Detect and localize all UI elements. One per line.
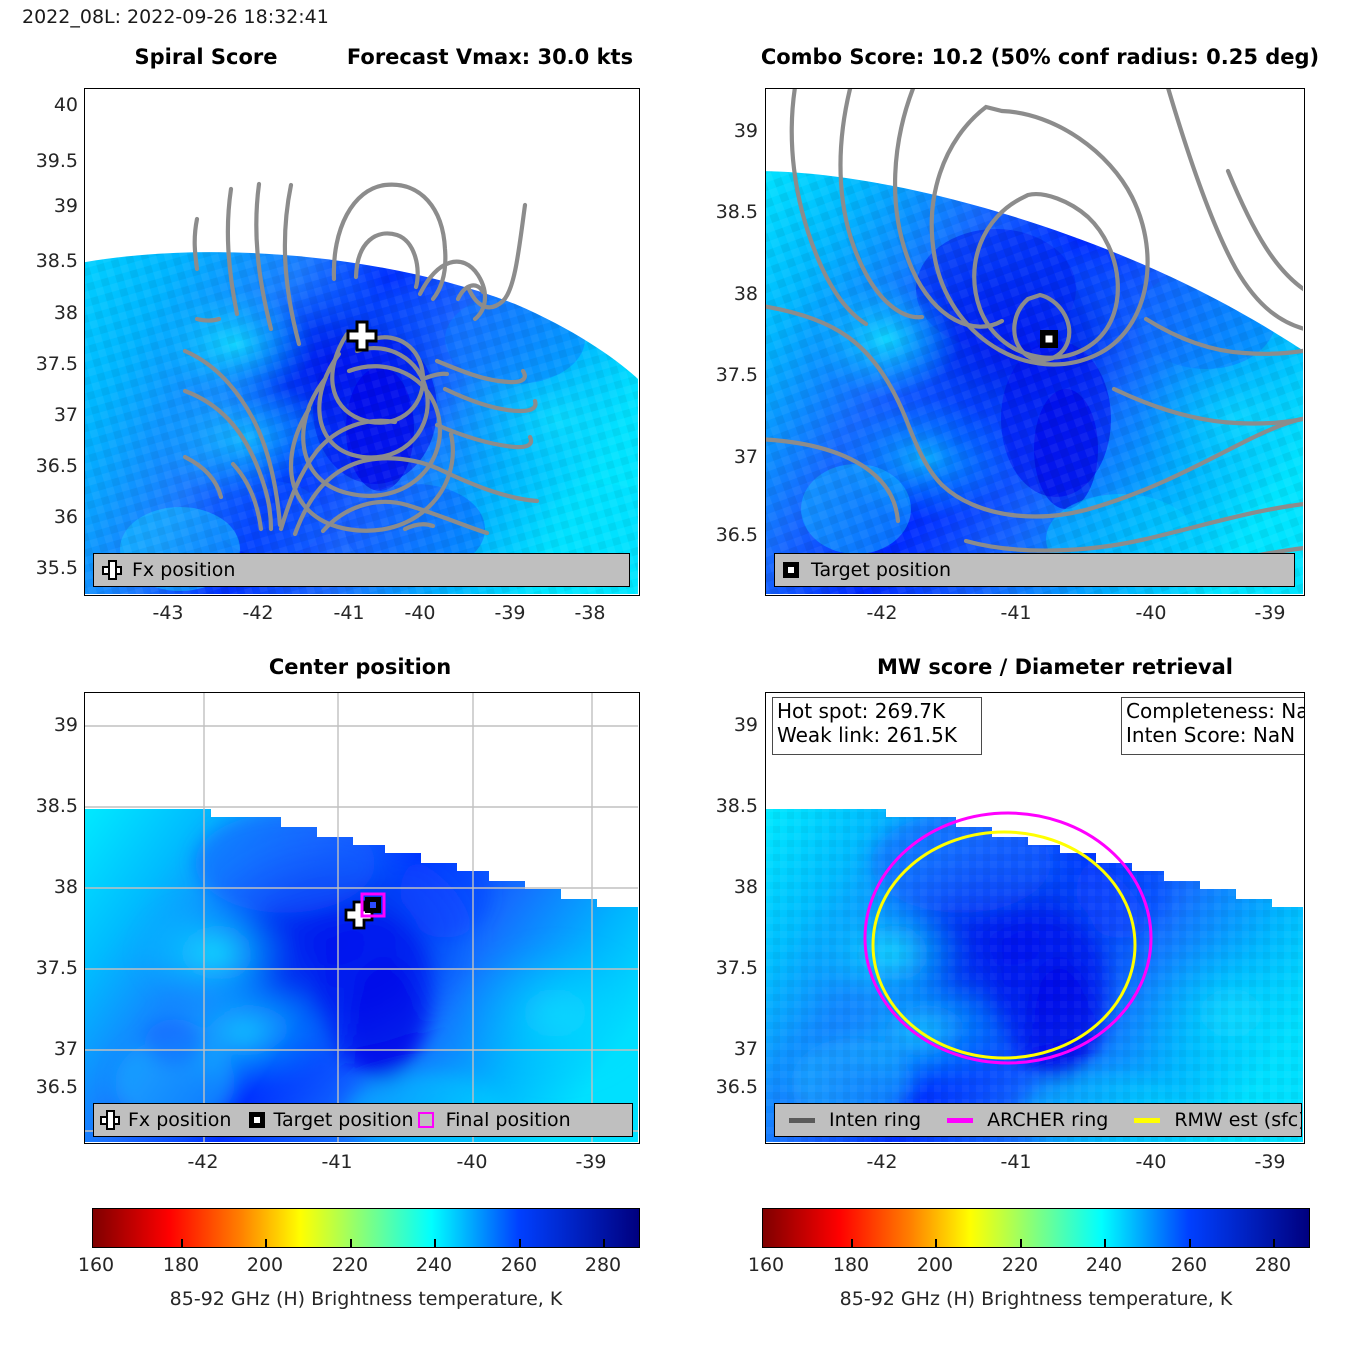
mw-weak-link: Weak link: 261.5K <box>777 724 977 748</box>
center-legend: Fx position Target position Final positi… <box>93 1103 633 1137</box>
rmw-ring-icon <box>1134 1118 1160 1123</box>
center-title: Center position <box>140 655 580 679</box>
spiral-title-vmax: Forecast Vmax: 30.0 kts <box>340 45 640 69</box>
mw-hot-spot: Hot spot: 269.7K <box>777 700 977 724</box>
colorbar-right-tick-2: 200 <box>917 1254 953 1276</box>
colorbar-right-label: 85-92 GHz (H) Brightness temperature, K <box>840 1288 1233 1310</box>
spiral-ytick-3: 38.5 <box>20 250 78 272</box>
center-ytick-1: 38.5 <box>20 795 78 817</box>
combo-ytick-4: 37 <box>700 446 758 468</box>
colorbar-right-tick-1: 180 <box>833 1254 869 1276</box>
combo-title: Combo Score: 10.2 (50% conf radius: 0.25… <box>745 45 1335 69</box>
mw-ytick-2: 38 <box>700 876 758 898</box>
mw-plot-svg <box>766 693 1303 1142</box>
header-timestamp: 2022_08L: 2022-09-26 18:32:41 <box>22 6 329 28</box>
center-ytick-3: 37.5 <box>20 957 78 979</box>
legend-label-target: Target position <box>273 1109 413 1131</box>
legend-item-archer-ring: ARCHER ring <box>947 1109 1108 1131</box>
spiral-ytick-4: 38 <box>20 302 78 324</box>
center-plot-area[interactable]: Fx position Target position Final positi… <box>84 692 640 1144</box>
mw-legend: Inten ring ARCHER ring RMW est (sfc) <box>774 1103 1302 1137</box>
spiral-ytick-9: 35.5 <box>20 557 78 579</box>
fx-position-icon <box>100 1110 120 1130</box>
mw-ytick-1: 38.5 <box>700 795 758 817</box>
center-xtick-1: -41 <box>321 1151 352 1173</box>
legend-item-target-position: Target position <box>249 1109 413 1131</box>
final-position-icon <box>418 1112 434 1128</box>
spiral-xtick-1: -42 <box>242 602 273 624</box>
mw-title: MW score / Diameter retrieval <box>830 655 1280 679</box>
center-ytick-5: 36.5 <box>20 1076 78 1098</box>
mw-xtick-0: -42 <box>866 1151 897 1173</box>
spiral-xtick-3: -40 <box>404 602 435 624</box>
colorbar-left-tick-6: 280 <box>585 1254 621 1276</box>
center-ytick-0: 39 <box>20 714 78 736</box>
center-ytick-2: 38 <box>20 876 78 898</box>
colorbar-left-label: 85-92 GHz (H) Brightness temperature, K <box>170 1288 563 1310</box>
combo-plot-svg <box>766 89 1303 594</box>
combo-legend: Target position <box>774 553 1295 587</box>
spiral-ytick-1: 39.5 <box>20 150 78 172</box>
mw-xtick-2: -40 <box>1135 1151 1166 1173</box>
mw-completeness: Completeness: NaN% <box>1126 700 1305 724</box>
colorbar-right-tick-6: 280 <box>1255 1254 1291 1276</box>
mw-stats-right: Completeness: NaN% Inten Score: NaN <box>1121 697 1305 755</box>
target-position-icon <box>783 562 799 578</box>
colorbar-left-tick-2: 200 <box>247 1254 283 1276</box>
colorbar-left-tick-0: 160 <box>78 1254 114 1276</box>
spiral-ytick-7: 36.5 <box>20 455 78 477</box>
colorbar-left-gradient <box>92 1208 640 1248</box>
spiral-legend: Fx position <box>93 553 630 587</box>
spiral-ytick-5: 37.5 <box>20 353 78 375</box>
spiral-title-left: Spiral Score <box>96 45 316 69</box>
legend-label-archer: ARCHER ring <box>987 1109 1108 1131</box>
target-position-icon <box>249 1112 265 1128</box>
spiral-xtick-5: -38 <box>574 602 605 624</box>
mw-xtick-1: -41 <box>1000 1151 1031 1173</box>
spiral-xtick-0: -43 <box>152 602 183 624</box>
legend-label-target: Target position <box>811 559 951 581</box>
spiral-ytick-6: 37 <box>20 404 78 426</box>
colorbar-left-tick-1: 180 <box>163 1254 199 1276</box>
center-xtick-0: -42 <box>187 1151 218 1173</box>
combo-plot-area[interactable]: Target position <box>765 88 1305 596</box>
combo-xtick-3: -39 <box>1254 602 1285 624</box>
spiral-xtick-4: -39 <box>494 602 525 624</box>
colorbar-right-tick-4: 240 <box>1086 1254 1122 1276</box>
colorbar-right-gradient <box>762 1208 1310 1248</box>
legend-item-fx-position: Fx position <box>102 559 235 581</box>
combo-ytick-0: 39 <box>700 120 758 142</box>
legend-item-final-position: Final position <box>418 1109 571 1131</box>
center-xtick-3: -39 <box>575 1151 606 1173</box>
center-plot-svg <box>85 693 638 1142</box>
combo-ytick-2: 38 <box>700 283 758 305</box>
mw-plot-area[interactable]: Hot spot: 269.7K Weak link: 261.5K Compl… <box>765 692 1305 1144</box>
colorbar-right-tick-3: 220 <box>1002 1254 1038 1276</box>
mw-ytick-0: 39 <box>700 714 758 736</box>
legend-item-rmw-ring: RMW est (sfc) <box>1134 1109 1302 1131</box>
colorbar-right-tick-5: 260 <box>1171 1254 1207 1276</box>
spiral-ytick-8: 36 <box>20 506 78 528</box>
combo-ytick-5: 36.5 <box>700 524 758 546</box>
legend-item-inten-ring: Inten ring <box>789 1109 921 1131</box>
spiral-ytick-0: 40 <box>20 94 78 116</box>
combo-ytick-3: 37.5 <box>700 364 758 386</box>
combo-xtick-1: -41 <box>1000 602 1031 624</box>
mw-ytick-5: 36.5 <box>700 1076 758 1098</box>
legend-item-fx-position: Fx position <box>100 1109 231 1131</box>
fx-position-icon <box>102 560 122 580</box>
legend-item-target-position: Target position <box>783 559 951 581</box>
colorbar-left-tick-3: 220 <box>332 1254 368 1276</box>
inten-ring-icon <box>789 1118 815 1123</box>
legend-label-fx: Fx position <box>132 559 235 581</box>
colorbar-left-tick-5: 260 <box>501 1254 537 1276</box>
center-xtick-2: -40 <box>456 1151 487 1173</box>
colorbar-left-tick-4: 240 <box>416 1254 452 1276</box>
spiral-ytick-2: 39 <box>20 195 78 217</box>
legend-label-fx: Fx position <box>128 1109 231 1131</box>
archer-ring-icon <box>947 1118 973 1123</box>
mw-stats-left: Hot spot: 269.7K Weak link: 261.5K <box>772 697 982 755</box>
mw-ytick-4: 37 <box>700 1038 758 1060</box>
colorbar-right-tick-0: 160 <box>748 1254 784 1276</box>
center-ytick-4: 37 <box>20 1038 78 1060</box>
combo-target-marker <box>1040 330 1058 348</box>
combo-xtick-0: -42 <box>866 602 897 624</box>
spiral-plot-area[interactable]: Fx position <box>84 88 640 596</box>
mw-inten-score: Inten Score: NaN <box>1126 724 1305 748</box>
mw-xtick-3: -39 <box>1254 1151 1285 1173</box>
mw-ytick-3: 37.5 <box>700 957 758 979</box>
legend-label-rmw: RMW est (sfc) <box>1174 1109 1302 1131</box>
spiral-xtick-2: -41 <box>333 602 364 624</box>
combo-ytick-1: 38.5 <box>700 201 758 223</box>
spiral-plot-svg <box>85 89 638 594</box>
combo-xtick-2: -40 <box>1135 602 1166 624</box>
center-target-marker <box>365 897 381 913</box>
legend-label-final: Final position <box>446 1109 571 1131</box>
legend-label-inten: Inten ring <box>829 1109 921 1131</box>
